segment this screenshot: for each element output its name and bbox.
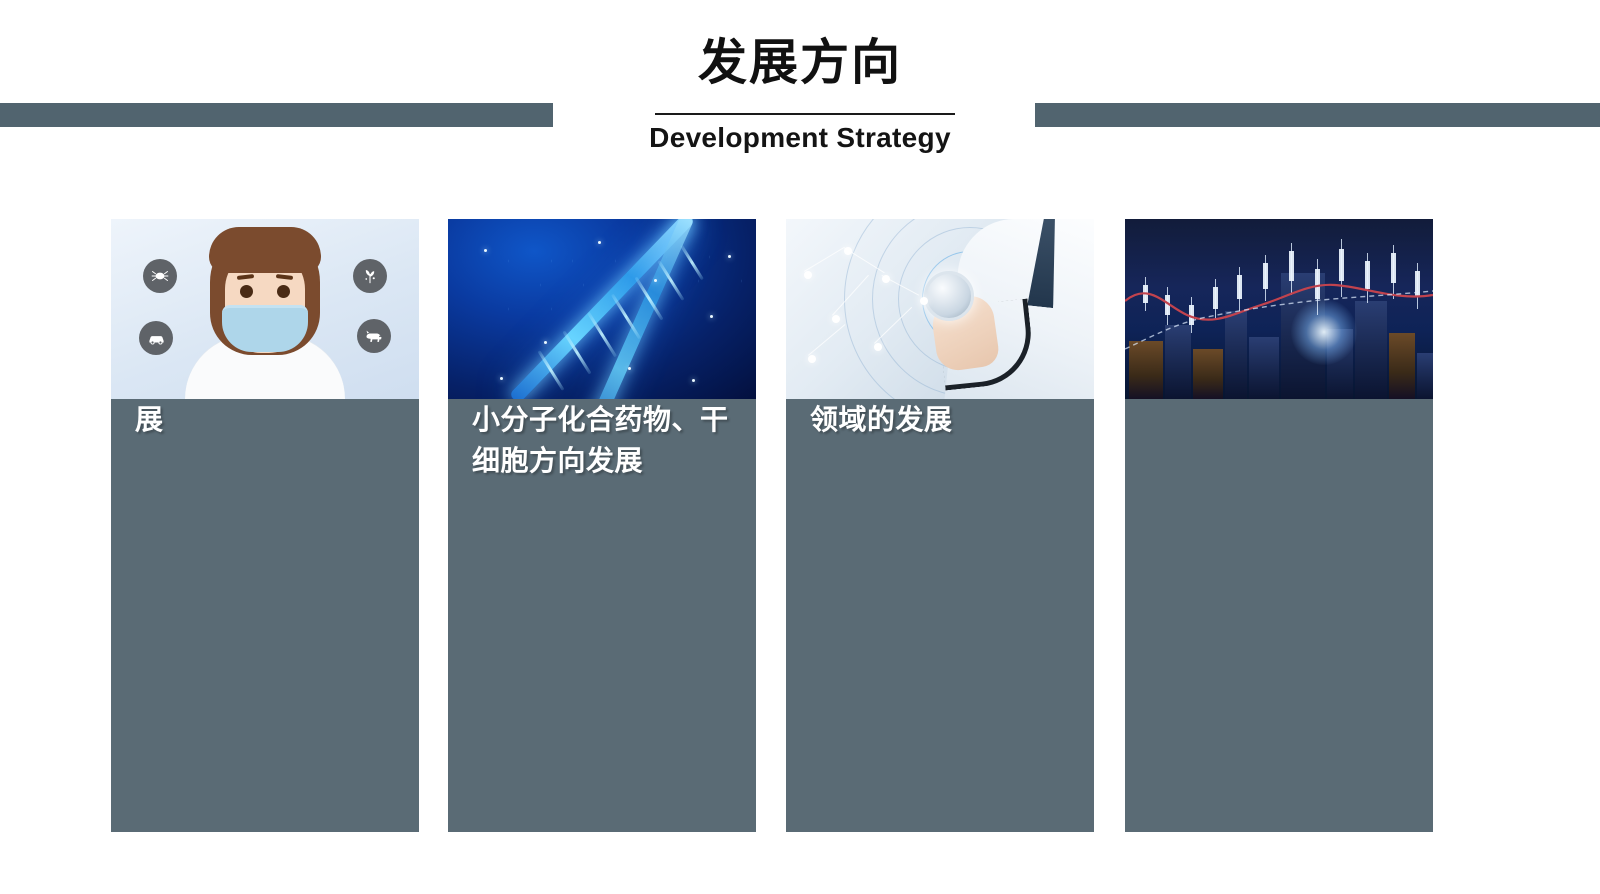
woman-eye-right: [277, 285, 290, 298]
strategy-card-allergen[interactable]: 过敏原方面 从单一的尘螨过敏原向多种过敏原方向发展: [111, 219, 419, 832]
glow-particle: [628, 367, 631, 370]
strategy-card-market[interactable]: 市场方面 从大陆市场向全球市场发展: [1125, 219, 1433, 832]
glow-particle: [598, 241, 601, 244]
woman-fringe: [209, 227, 321, 273]
network-node: [920, 297, 928, 305]
building: [1193, 349, 1223, 399]
title-divider: [655, 113, 955, 115]
network-node: [808, 355, 816, 363]
network-node: [832, 315, 840, 323]
building: [1417, 353, 1433, 399]
network-link: [804, 247, 844, 272]
glow-particle: [654, 279, 657, 282]
page-title: 发展方向: [0, 38, 1600, 89]
network-link: [808, 324, 845, 356]
dog-icon: [357, 319, 391, 353]
stethoscope-head-icon: [924, 271, 974, 321]
pollen-icon: [353, 259, 387, 293]
glow-particle: [484, 249, 487, 252]
dust-mite-icon: [143, 259, 177, 293]
strategy-card-drug[interactable]: 药物方面 从蛋白质过敏原制剂到中药、天然药物、小分子化合药物、干细胞方向发展: [448, 219, 756, 832]
glow-particle: [692, 379, 695, 382]
strategy-card-diagnosis[interactable]: 诊断领域方面 从过敏性疾病诊断与治疗到其他新的医疗领域的发展: [786, 219, 1094, 832]
glow-particle: [544, 341, 547, 344]
card-image-masked-woman-allergen-illustration: [111, 219, 419, 399]
card-image-city-skyline-stock-chart-photo: [1125, 219, 1433, 399]
slide-header: 发展方向 Development Strategy: [0, 0, 1600, 190]
page-subtitle: Development Strategy: [0, 122, 1600, 154]
glow-particle: [728, 255, 731, 258]
car-exhaust-icon: [139, 321, 173, 355]
network-node: [804, 271, 812, 279]
trend-line-white: [1125, 283, 1433, 355]
glow-particle: [710, 315, 713, 318]
network-node: [874, 343, 882, 351]
dna-base-pair: [587, 312, 617, 358]
woman-eye-left: [240, 285, 253, 298]
glow-particle: [500, 377, 503, 380]
card-image-doctor-stethoscope-photo: [786, 219, 1094, 399]
surgical-mask-icon: [222, 305, 308, 352]
card-image-dna-double-helix-photo: [448, 219, 756, 399]
